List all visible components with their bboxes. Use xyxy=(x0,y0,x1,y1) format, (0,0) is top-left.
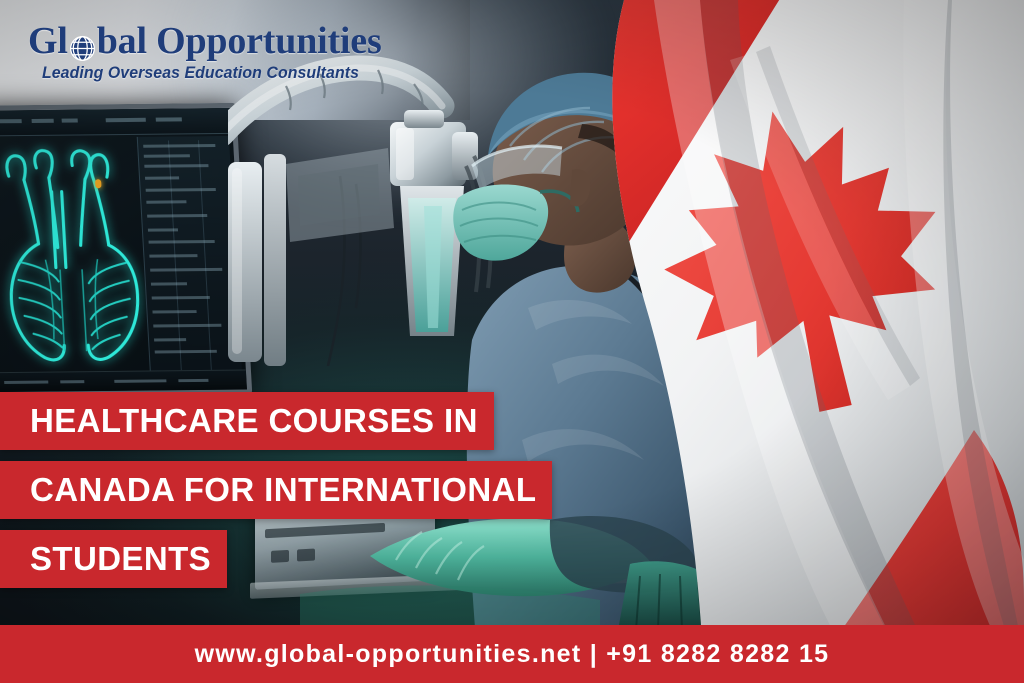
footer-contact-text[interactable]: www.global-opportunities.net | +91 8282 … xyxy=(195,640,830,669)
globe-icon xyxy=(69,31,96,58)
vascular-scan-image xyxy=(0,139,149,390)
headline-line-3: STUDENTS xyxy=(0,530,227,588)
footer-contact-bar: www.global-opportunities.net | +91 8282 … xyxy=(0,625,1024,683)
logo-text-before-globe: Gl xyxy=(28,22,68,60)
headline-row: CANADA FOR INTERNATIONAL xyxy=(0,461,552,519)
monitor-toolbar xyxy=(0,108,233,137)
headline-row: STUDENTS xyxy=(0,530,552,588)
medical-imaging-monitor xyxy=(0,103,252,397)
logo-text-after-globe: bal Opportunities xyxy=(97,22,382,60)
monitor-data-panel xyxy=(137,136,242,375)
headline: HEALTHCARE COURSES IN CANADA FOR INTERNA… xyxy=(0,392,552,599)
monitor-statusbar xyxy=(0,369,247,392)
monitor-status-indicator xyxy=(95,179,102,188)
logo-wordmark: Gl bal Opportunities xyxy=(28,22,428,60)
logo-tagline: Leading Overseas Education Consultants xyxy=(42,64,413,83)
brand-logo[interactable]: Gl bal Opportunities Leading Overseas Ed… xyxy=(28,22,428,83)
promotional-banner: Gl bal Opportunities Leading Overseas Ed… xyxy=(0,0,1024,683)
canadian-flag xyxy=(504,0,1024,683)
headline-row: HEALTHCARE COURSES IN xyxy=(0,392,552,450)
headline-line-1: HEALTHCARE COURSES IN xyxy=(0,392,494,450)
headline-line-2: CANADA FOR INTERNATIONAL xyxy=(0,461,552,519)
